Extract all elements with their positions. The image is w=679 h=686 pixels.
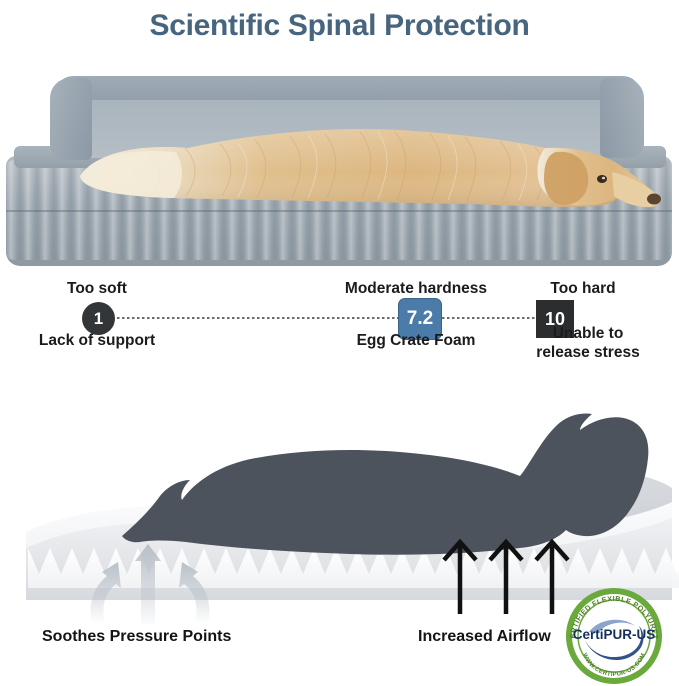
- caption-soothes-pressure-points: Soothes Pressure Points: [42, 628, 231, 646]
- product-photo: [0, 48, 679, 270]
- scale-right-bottom-label: Unable to release stress: [508, 324, 668, 362]
- scale-middle-bottom-label: Egg Crate Foam: [330, 332, 502, 350]
- hardness-scale: Too soft Moderate hardness Too hard 1 7.…: [0, 274, 679, 384]
- scale-left-bottom-label: Lack of support: [6, 332, 188, 350]
- scale-middle-top-label: Moderate hardness: [318, 280, 514, 298]
- seal-brand-text: CertiPUR-US: [573, 627, 656, 642]
- scale-right-bottom-line2: release stress: [536, 344, 639, 361]
- scale-dotted-line: [102, 317, 562, 319]
- dog-photo-illustration: [0, 48, 679, 270]
- certipur-us-seal: CONTAINS CERTIFIED FLEXIBLE POLYURETHANE…: [565, 588, 663, 684]
- page-title: Scientific Spinal Protection: [0, 0, 679, 48]
- caption-increased-airflow: Increased Airflow: [418, 628, 551, 646]
- scale-left-top-label: Too soft: [22, 280, 172, 298]
- scale-marker-1: 1: [82, 302, 115, 335]
- scale-right-top-label: Too hard: [508, 280, 658, 298]
- scale-right-bottom-line1: Unable to: [553, 325, 624, 342]
